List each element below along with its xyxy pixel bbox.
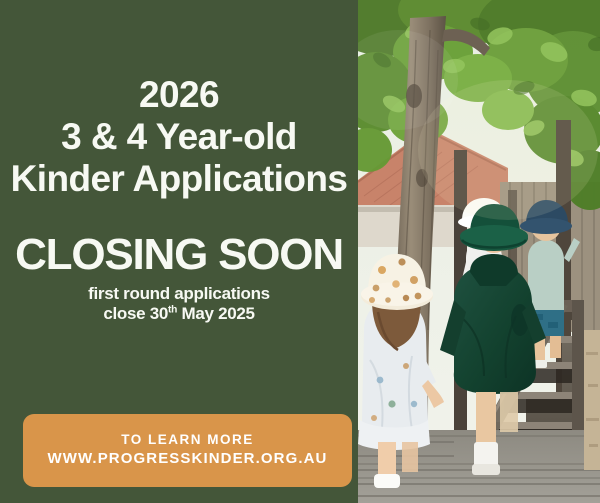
learn-more-button[interactable]: TO LEARN MORE WWW.PROGRESSKINDER.ORG.AU (23, 414, 352, 487)
closing-date-ordinal: th (168, 304, 177, 315)
headline-program: Kinder Applications (0, 160, 358, 197)
closing-note-line2: close 30th May 2025 (0, 304, 358, 324)
playground-photo-illustration (358, 0, 600, 503)
headline-age-group: 3 & 4 Year-old (0, 118, 358, 155)
closing-date-prefix: close 30 (103, 304, 168, 323)
closing-date-note: first round applications close 30th May … (0, 284, 358, 324)
headline-year: 2026 (0, 76, 358, 113)
playground-photo (358, 0, 600, 503)
green-text-panel: 2026 3 & 4 Year-old Kinder Applications … (0, 0, 358, 503)
cta-label: TO LEARN MORE (121, 431, 254, 449)
closing-date-suffix: May 2025 (177, 304, 255, 323)
cta-url: WWW.PROGRESSKINDER.ORG.AU (47, 449, 327, 469)
closing-note-line1: first round applications (0, 284, 358, 304)
kinder-applications-poster: 2026 3 & 4 Year-old Kinder Applications … (0, 0, 600, 503)
page-title: 2026 3 & 4 Year-old Kinder Applications (0, 76, 358, 197)
status-badge: CLOSING SOON (0, 233, 358, 277)
